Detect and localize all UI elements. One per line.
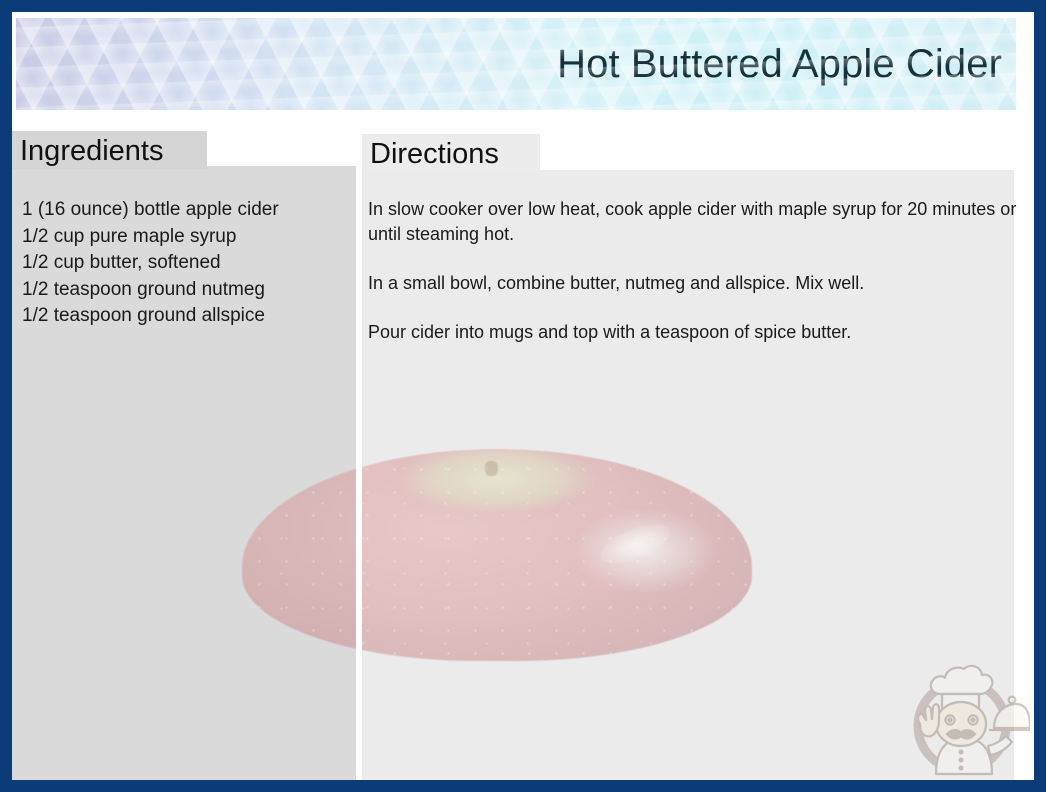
directions-heading-tab: Directions <box>362 134 540 172</box>
title-banner: Hot Buttered Apple Cider <box>16 18 1016 110</box>
list-item: 1/2 teaspoon ground nutmeg <box>22 277 352 304</box>
ingredients-heading-tab: Ingredients <box>12 131 207 169</box>
list-item: 1 (16 ounce) bottle apple cider <box>22 197 352 224</box>
direction-step: In slow cooker over low heat, cook apple… <box>368 197 1018 247</box>
direction-step: In a small bowl, combine butter, nutmeg … <box>368 271 1018 296</box>
ingredients-list: 1 (16 ounce) bottle apple cider 1/2 cup … <box>22 197 352 330</box>
list-item: 1/2 cup butter, softened <box>22 250 352 277</box>
list-item: 1/2 cup pure maple syrup <box>22 224 352 251</box>
slide-frame: Hot Buttered Apple Cider Ingredients Dir… <box>0 0 1046 792</box>
list-item: 1/2 teaspoon ground allspice <box>22 303 352 330</box>
page-title: Hot Buttered Apple Cider <box>557 42 1002 86</box>
ingredients-heading-label: Ingredients <box>20 135 164 167</box>
directions-steps: In slow cooker over low heat, cook apple… <box>368 197 1018 345</box>
chef-logo-icon <box>902 650 1030 778</box>
direction-step: Pour cider into mugs and top with a teas… <box>368 320 1018 345</box>
panel-divider <box>356 166 362 780</box>
directions-heading-label: Directions <box>370 138 499 170</box>
slide-canvas: Hot Buttered Apple Cider Ingredients Dir… <box>12 12 1034 780</box>
